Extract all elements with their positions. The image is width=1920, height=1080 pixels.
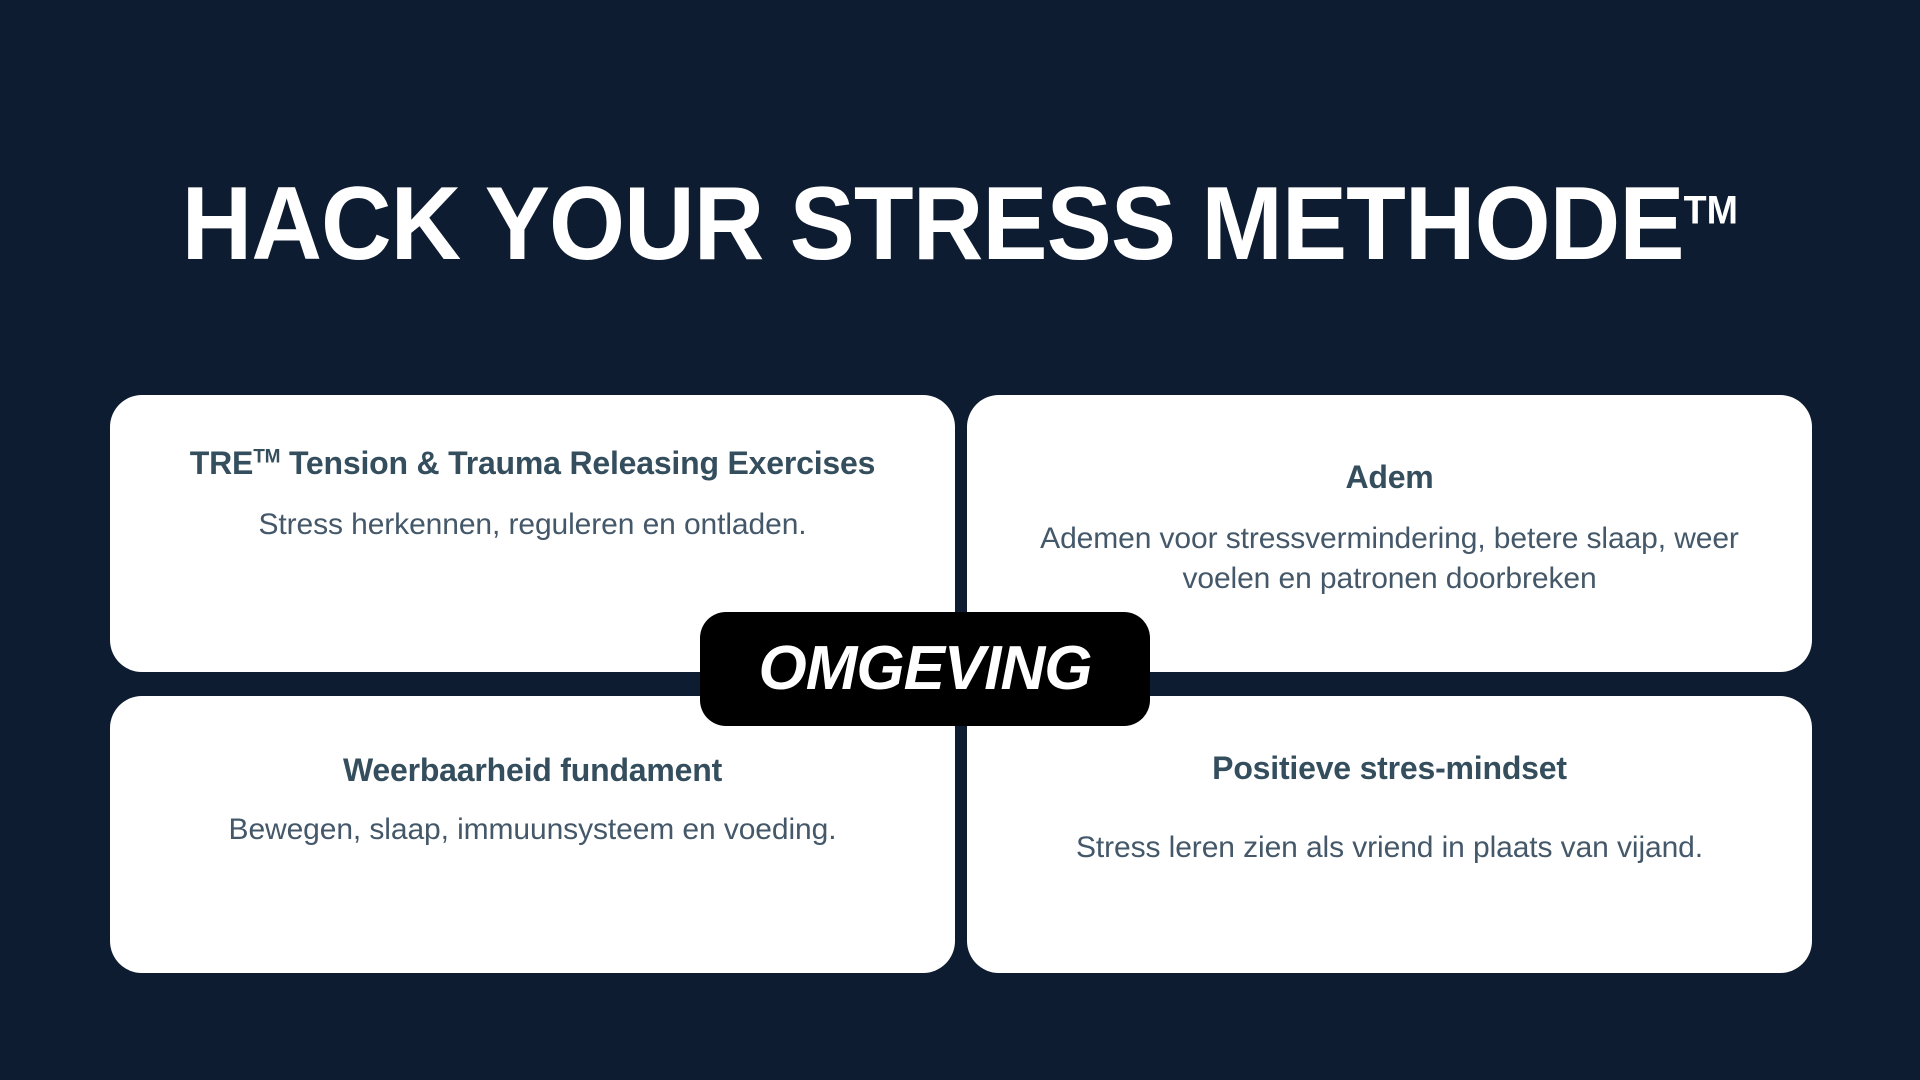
- slide-title-text: HACK YOUR STRESS METHODETM: [182, 168, 1738, 280]
- card-tre-title-rest: Tension & Trauma Releasing Exercises: [280, 445, 875, 481]
- slide-root: HACK YOUR STRESS METHODETM TRETM Tension…: [0, 0, 1920, 1080]
- card-tre-title-main: TRE: [190, 445, 253, 481]
- center-badge: OMGEVING: [700, 612, 1150, 726]
- trademark-symbol: TM: [1684, 188, 1738, 232]
- card-adem-title-main: Adem: [1345, 459, 1433, 495]
- page-title: HACK YOUR STRESS METHODETM: [0, 168, 1920, 280]
- card-mindset[interactable]: Positieve stres-mindset Stress leren zie…: [967, 696, 1812, 973]
- card-tre-body: Stress herkennen, reguleren en ontladen.: [162, 505, 903, 545]
- card-weerbaarheid-title-main: Weerbaarheid fundament: [343, 752, 722, 788]
- center-badge-label: OMGEVING: [758, 638, 1091, 700]
- slide-title-main: HACK YOUR STRESS METHODE: [182, 166, 1684, 282]
- card-mindset-body: Stress leren zien als vriend in plaats v…: [1019, 828, 1760, 868]
- trademark-symbol: TM: [253, 446, 280, 467]
- card-weerbaarheid-body: Bewegen, slaap, immuunsysteem en voeding…: [162, 810, 903, 850]
- card-mindset-title-main: Positieve stres-mindset: [1212, 750, 1567, 786]
- card-adem-title: Adem: [1019, 457, 1760, 497]
- card-adem-body: Ademen voor stressvermindering, betere s…: [1019, 519, 1760, 599]
- card-mindset-title: Positieve stres-mindset: [1019, 748, 1760, 788]
- card-weerbaarheid-title: Weerbaarheid fundament: [162, 750, 903, 790]
- card-tre-title: TRETM Tension & Trauma Releasing Exercis…: [162, 443, 903, 483]
- card-weerbaarheid[interactable]: Weerbaarheid fundament Bewegen, slaap, i…: [110, 696, 955, 973]
